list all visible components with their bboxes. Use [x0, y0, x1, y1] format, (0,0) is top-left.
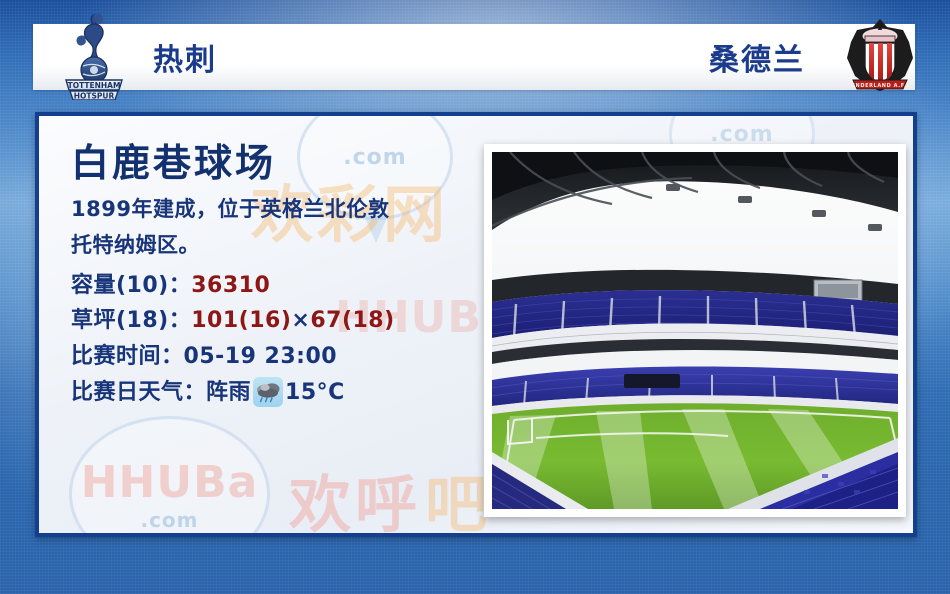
watermark-bubble-text-2: .com — [710, 122, 773, 147]
stat-matchday-weather: 比赛日天气：阵雨 15°C — [71, 375, 501, 411]
weather-temperature: 15°C — [285, 375, 345, 411]
home-team-crest-tottenham-icon: TOTTENHAM HOTSPUR — [63, 12, 125, 100]
shower-rain-icon — [253, 377, 283, 407]
watermark-brand-cn-bottom-2: 吧 — [425, 454, 491, 537]
stadium-photo-frame — [484, 144, 906, 517]
stadium-title: 白鹿巷球场 — [71, 144, 501, 184]
stat-pitch: 草坪(18)：101(16)×67(18) — [71, 303, 501, 339]
watermark-brand-cn-bottom: 欢呼 — [289, 454, 421, 537]
watermark-brand-latin: HHUBa — [81, 457, 259, 508]
weather-condition: 阵雨 — [206, 375, 251, 411]
stat-kickoff-time: 比赛时间：05-19 23:00 — [71, 339, 501, 375]
stat-capacity: 容量(10)：36310 — [71, 268, 501, 304]
watermark-bubble-text-3: .com — [140, 508, 198, 532]
svg-text:HOTSPUR: HOTSPUR — [74, 92, 115, 101]
stadium-info-card: .com .com HHUBa .com HHUBa 欢彩网 欢呼 吧 白鹿巷球… — [35, 112, 917, 537]
stat-pitch-separator: × — [291, 308, 310, 333]
svg-text:TOTTENHAM: TOTTENHAM — [68, 81, 121, 90]
stadium-info-text: 白鹿巷球场 1899年建成，位于英格兰北伦敦 托特纳姆区。 容量(10)：363… — [71, 144, 501, 410]
stadium-description-line-2: 托特纳姆区。 — [71, 230, 501, 262]
stat-kickoff-value: 05-19 23:00 — [184, 344, 338, 369]
watermark-bubble-bottom: HHUBa .com — [69, 416, 270, 537]
away-team-crest-sunderland-icon: SUNDERLAND A.F.C. — [843, 18, 917, 92]
svg-text:SUNDERLAND A.F.C.: SUNDERLAND A.F.C. — [847, 83, 914, 89]
stadium-photo — [492, 152, 898, 509]
page-root: 热刺 桑德兰 — [0, 0, 950, 594]
stat-pitch-length: 101(16) — [191, 308, 291, 333]
stat-capacity-label: 容量(10)： — [71, 273, 191, 298]
stat-kickoff-label: 比赛时间： — [71, 344, 184, 369]
stat-capacity-value: 36310 — [191, 273, 270, 298]
stadium-description-line-1: 1899年建成，位于英格兰北伦敦 — [71, 194, 501, 226]
stat-pitch-label: 草坪(18)： — [71, 308, 191, 333]
away-team-name: 桑德兰 — [709, 35, 805, 79]
weather-label: 比赛日天气： — [71, 375, 206, 411]
home-team-name: 热刺 — [153, 35, 217, 79]
match-header-bar: 热刺 桑德兰 — [33, 24, 915, 90]
stat-pitch-width: 67(18) — [310, 308, 394, 333]
